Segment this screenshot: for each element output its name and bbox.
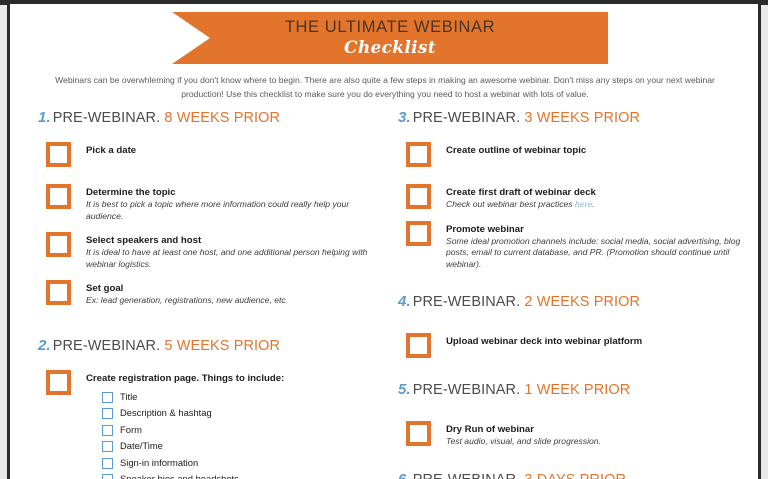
sub-checkbox-icon[interactable]: [102, 441, 113, 452]
section-when-6: 3 DAYS PRIOR: [524, 472, 626, 479]
section-heading-2: 2.PRE-WEBINAR. 5 WEEKS PRIOR: [38, 337, 378, 354]
section-number-1: 1.: [38, 109, 53, 126]
here-link[interactable]: here: [575, 199, 592, 209]
sub-item-label: Date/Time: [120, 440, 163, 451]
item-title: Create registration page. Things to incl…: [86, 369, 378, 385]
checklist-item[interactable]: Dry Run of webinar Test audio, visual, a…: [398, 420, 748, 448]
item-title: Create first draft of webinar deck: [446, 183, 748, 199]
right-column: 3.PRE-WEBINAR. 3 WEEKS PRIOR Create outl…: [398, 109, 748, 479]
sub-checkbox-icon[interactable]: [102, 408, 113, 419]
sub-checklist-item[interactable]: Title: [100, 391, 378, 403]
checkbox-icon[interactable]: [46, 232, 71, 257]
checklist-item[interactable]: Set goal Ex: lead generation, registrati…: [38, 279, 378, 307]
sub-checkbox-icon[interactable]: [102, 458, 113, 469]
sub-checkbox-icon[interactable]: [102, 392, 113, 403]
section-number-3: 3.: [398, 109, 413, 126]
section-heading-4: 4.PRE-WEBINAR. 2 WEEKS PRIOR: [398, 293, 748, 310]
sub-checklist-item[interactable]: Speaker bios and headshots: [100, 473, 378, 479]
checkbox-icon[interactable]: [406, 184, 431, 209]
section-when-4: 2 WEEKS PRIOR: [524, 294, 640, 310]
checklist-item[interactable]: Create registration page. Things to incl…: [38, 369, 378, 479]
section-when-2: 5 WEEKS PRIOR: [164, 338, 280, 354]
section-label-5: PRE-WEBINAR.: [413, 382, 521, 398]
item-title: Upload webinar deck into webinar platfor…: [446, 332, 748, 348]
ribbon-banner: THE ULTIMATE WEBINAR Checklist: [172, 12, 608, 64]
checkbox-icon[interactable]: [46, 142, 71, 167]
section-number-4: 4.: [398, 293, 413, 310]
checklist-item[interactable]: Create first draft of webinar deck Check…: [398, 183, 748, 211]
sub-checkbox-icon[interactable]: [102, 425, 113, 436]
checklist-item[interactable]: Upload webinar deck into webinar platfor…: [398, 332, 748, 358]
item-title: Set goal: [86, 279, 378, 295]
sub-item-label: Form: [120, 424, 142, 435]
checkbox-icon[interactable]: [46, 370, 71, 395]
section-heading-5: 5.PRE-WEBINAR. 1 WEEK PRIOR: [398, 381, 748, 398]
section-label-3: PRE-WEBINAR.: [413, 110, 521, 126]
checkbox-icon[interactable]: [406, 421, 431, 446]
sub-item-label: Description & hashtag: [120, 407, 212, 418]
item-description: It is ideal to have at least one host, a…: [86, 247, 378, 270]
checkbox-icon[interactable]: [406, 142, 431, 167]
banner-subtitle: Checklist: [172, 38, 608, 58]
section-label-4: PRE-WEBINAR.: [413, 294, 521, 310]
sub-checklist-item[interactable]: Date/Time: [100, 440, 378, 452]
checklist-item[interactable]: Determine the topic It is best to pick a…: [38, 183, 378, 222]
section-label-2: PRE-WEBINAR.: [53, 338, 161, 354]
item-description: Test audio, visual, and slide progressio…: [446, 436, 748, 448]
sub-checklist: Title Description & hashtag Form Date/Ti…: [100, 391, 378, 479]
item-description-tail: .: [592, 199, 594, 209]
sub-item-label: Speaker bios and headshots: [120, 473, 239, 479]
item-title: Select speakers and host: [86, 231, 378, 247]
section-heading-6: 6.PRE-WEBINAR. 3 DAYS PRIOR: [398, 471, 748, 479]
checkbox-icon[interactable]: [46, 184, 71, 209]
item-description: Some ideal promotion channels include: s…: [446, 236, 748, 271]
item-description: It is best to pick a topic where more in…: [86, 199, 378, 222]
section-when-5: 1 WEEK PRIOR: [524, 382, 630, 398]
section-number-5: 5.: [398, 381, 413, 398]
sub-checkbox-icon[interactable]: [102, 474, 113, 479]
checklist-item[interactable]: Promote webinar Some ideal promotion cha…: [398, 220, 748, 271]
checkbox-icon[interactable]: [406, 221, 431, 246]
sub-checklist-item[interactable]: Description & hashtag: [100, 407, 378, 419]
item-title: Create outline of webinar topic: [446, 141, 748, 157]
item-title: Promote webinar: [446, 220, 748, 236]
sub-item-label: Sign-in information: [120, 457, 198, 468]
checklist-item[interactable]: Pick a date: [38, 141, 378, 167]
sub-checklist-item[interactable]: Sign-in information: [100, 457, 378, 469]
left-column: 1.PRE-WEBINAR. 8 WEEKS PRIOR Pick a date…: [38, 109, 378, 479]
section-heading-1: 1.PRE-WEBINAR. 8 WEEKS PRIOR: [38, 109, 378, 126]
sub-item-label: Title: [120, 391, 137, 402]
item-description: Check out webinar best practices here.: [446, 199, 748, 211]
item-description-text: Check out webinar best practices: [446, 199, 575, 209]
section-number-6: 6.: [398, 471, 413, 479]
section-when-3: 3 WEEKS PRIOR: [524, 110, 640, 126]
section-number-2: 2.: [38, 337, 53, 354]
item-title: Determine the topic: [86, 183, 378, 199]
sub-checklist-item[interactable]: Form: [100, 424, 378, 436]
checkbox-icon[interactable]: [406, 333, 431, 358]
checkbox-icon[interactable]: [46, 280, 71, 305]
intro-paragraph: Webinars can be overwhleming if you don'…: [46, 74, 724, 101]
checklist-item[interactable]: Select speakers and host It is ideal to …: [38, 231, 378, 270]
item-description: Ex: lead generation, registrations, new …: [86, 295, 378, 307]
checklist-item[interactable]: Create outline of webinar topic: [398, 141, 748, 167]
section-label-6: PRE-WEBINAR.: [413, 472, 521, 479]
section-label-1: PRE-WEBINAR.: [53, 110, 161, 126]
banner-title: THE ULTIMATE WEBINAR: [172, 12, 608, 37]
section-when-1: 8 WEEKS PRIOR: [164, 110, 280, 126]
checklist-page: THE ULTIMATE WEBINAR Checklist Webinars …: [7, 4, 761, 479]
item-title: Pick a date: [86, 141, 378, 157]
item-title: Dry Run of webinar: [446, 420, 748, 436]
banner-area: THE ULTIMATE WEBINAR Checklist: [10, 9, 758, 65]
section-heading-3: 3.PRE-WEBINAR. 3 WEEKS PRIOR: [398, 109, 748, 126]
